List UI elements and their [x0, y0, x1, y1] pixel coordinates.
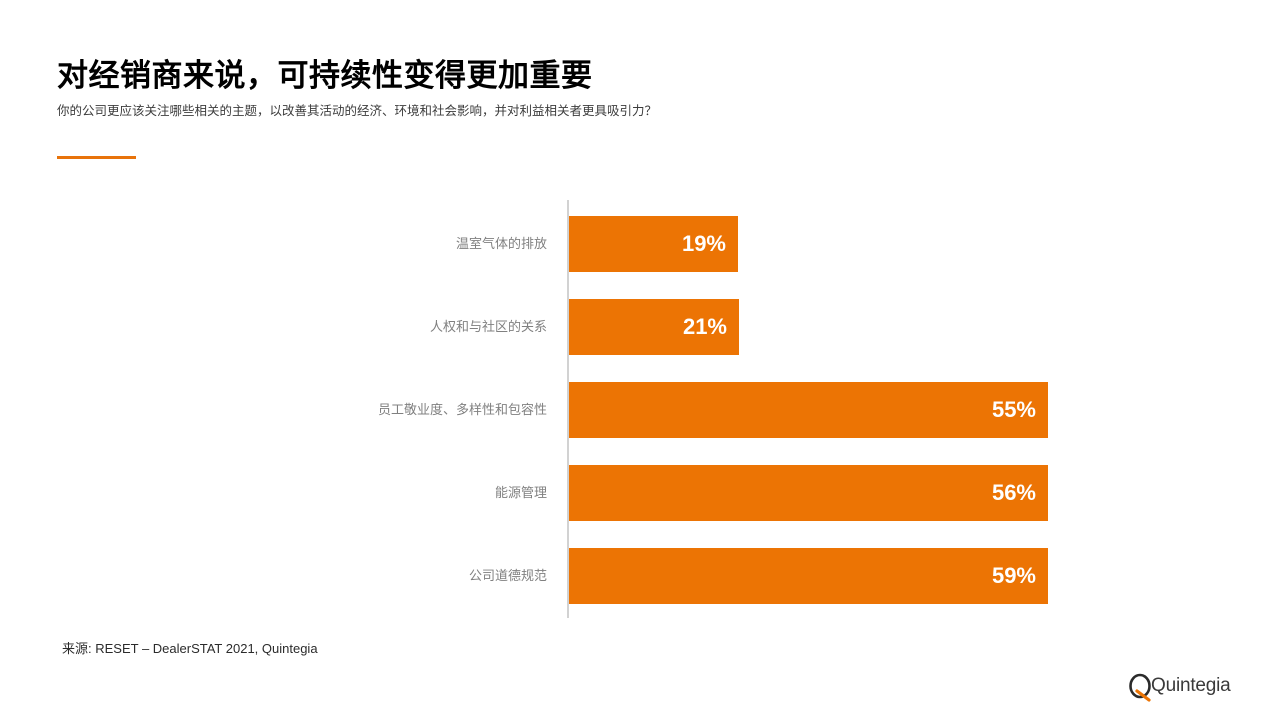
bar-chart: 温室气体的排放19%人权和与社区的关系21%员工敬业度、多样性和包容性55%能源… — [0, 190, 1280, 630]
bar[interactable] — [569, 382, 1048, 438]
bar-row: 公司道德规范59% — [0, 548, 1280, 604]
page-title: 对经销商来说，可持续性变得更加重要 — [57, 58, 1217, 94]
accent-rule — [57, 156, 136, 159]
bar-row: 员工敬业度、多样性和包容性55% — [0, 382, 1280, 438]
bar-wrapper: 56% — [569, 465, 1048, 521]
bar-wrapper: 21% — [569, 299, 739, 355]
bar[interactable] — [569, 548, 1048, 604]
quintegia-logo: Quintegia — [1128, 672, 1248, 706]
bar-value-label: 56% — [992, 465, 1036, 521]
source-note: 来源: RESET – DealerSTAT 2021, Quintegia — [62, 638, 318, 657]
header: 对经销商来说，可持续性变得更加重要 你的公司更应该关注哪些相关的主题，以改善其活… — [57, 58, 1217, 119]
bar-row: 能源管理56% — [0, 465, 1280, 521]
bar-category-label: 员工敬业度、多样性和包容性 — [378, 382, 547, 438]
bar[interactable] — [569, 465, 1048, 521]
bar-value-label: 21% — [683, 299, 727, 355]
bar-category-label: 公司道德规范 — [469, 548, 547, 604]
bar-row: 温室气体的排放19% — [0, 216, 1280, 272]
page-subtitle: 你的公司更应该关注哪些相关的主题，以改善其活动的经济、环境和社会影响，并对利益相… — [57, 103, 1217, 119]
bar-wrapper: 55% — [569, 382, 1048, 438]
bar-value-label: 59% — [992, 548, 1036, 604]
bar-category-label: 人权和与社区的关系 — [430, 299, 547, 355]
bar-wrapper: 59% — [569, 548, 1048, 604]
bar-wrapper: 19% — [569, 216, 738, 272]
bar-row: 人权和与社区的关系21% — [0, 299, 1280, 355]
bar-value-label: 19% — [682, 216, 726, 272]
bar-category-label: 温室气体的排放 — [456, 216, 547, 272]
bar-category-label: 能源管理 — [495, 465, 547, 521]
logo-wordmark: Quintegia — [1151, 675, 1231, 697]
bar-value-label: 55% — [992, 382, 1036, 438]
slide-root: 对经销商来说，可持续性变得更加重要 你的公司更应该关注哪些相关的主题，以改善其活… — [0, 0, 1280, 720]
